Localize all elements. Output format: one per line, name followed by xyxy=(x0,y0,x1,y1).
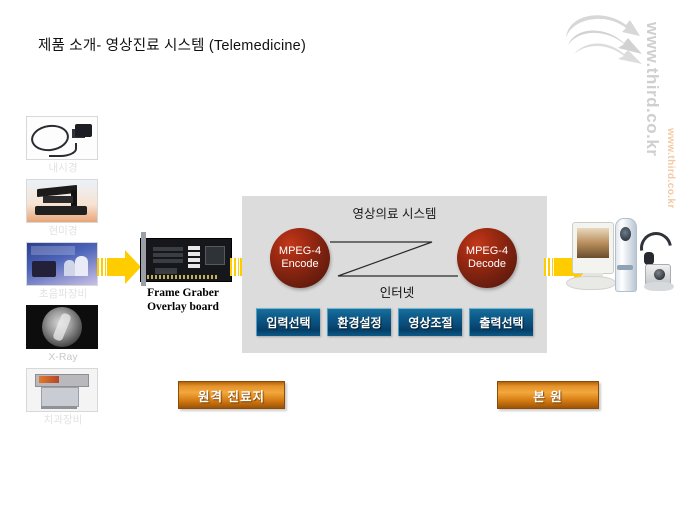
watermark: www.third.co.kr www.third.co.kr xyxy=(560,0,680,200)
mpeg4-encode-node: MPEG-4 Encode xyxy=(270,228,330,288)
function-button-row: 입력선택 환경설정 영상조절 출력선택 xyxy=(256,308,533,336)
encode-line1: MPEG-4 xyxy=(279,245,321,259)
mpeg4-decode-node: MPEG-4 Decode xyxy=(457,228,517,288)
device-item-ultrasound: 초음파장비 xyxy=(26,242,106,301)
endoscope-image xyxy=(26,116,98,160)
pci-capture-card-image xyxy=(140,238,232,282)
settings-button[interactable]: 환경설정 xyxy=(327,308,391,336)
input-select-button[interactable]: 입력선택 xyxy=(256,308,320,336)
flow-arrow-1 xyxy=(97,250,141,284)
device-label: 치과장비 xyxy=(26,414,100,427)
system-panel-title: 영상의료 시스템 xyxy=(242,203,547,222)
xray-image xyxy=(26,305,98,349)
device-item-microscope: 현미경 xyxy=(26,179,106,238)
network-link-line xyxy=(328,236,460,282)
location-bar-remote: 원격 진료지 xyxy=(178,381,285,409)
device-item-endoscope: 내시경 xyxy=(26,116,106,175)
device-label: X-Ray xyxy=(26,351,100,364)
decode-line1: MPEG-4 xyxy=(466,245,508,259)
device-label: 내시경 xyxy=(26,162,100,175)
page-title: 제품 소개- 영상진료 시스템 (Telemedicine) xyxy=(38,34,306,55)
framegrabber-block: Frame Graber Overlay board xyxy=(140,238,232,314)
curved-arrow-icon xyxy=(562,12,648,74)
video-conference-terminal-image xyxy=(568,218,676,304)
output-select-button[interactable]: 출력선택 xyxy=(469,308,533,336)
device-item-xray: X-Ray xyxy=(26,305,106,364)
device-label: 초음파장비 xyxy=(26,288,100,301)
watermark-url-large: www.third.co.kr xyxy=(642,22,662,156)
decode-line2: Decode xyxy=(468,258,506,272)
ultrasound-image xyxy=(26,242,98,286)
watermark-url-small: www.third.co.kr xyxy=(665,128,676,209)
network-label: 인터넷 xyxy=(352,282,442,301)
framegrabber-label-line2: Overlay board xyxy=(134,300,232,314)
device-label: 현미경 xyxy=(26,225,100,238)
location-bar-main: 본 원 xyxy=(497,381,599,409)
framegrabber-label-line1: Frame Graber xyxy=(134,286,232,300)
microscope-image xyxy=(26,179,98,223)
dental-equipment-image xyxy=(26,368,98,412)
encode-line2: Encode xyxy=(281,258,318,272)
telemedicine-system-panel: 영상의료 시스템 MPEG-4 Encode 인터넷 MPEG-4 Decode… xyxy=(242,196,547,353)
image-adjust-button[interactable]: 영상조절 xyxy=(398,308,462,336)
device-item-dental: 치과장비 xyxy=(26,368,106,427)
